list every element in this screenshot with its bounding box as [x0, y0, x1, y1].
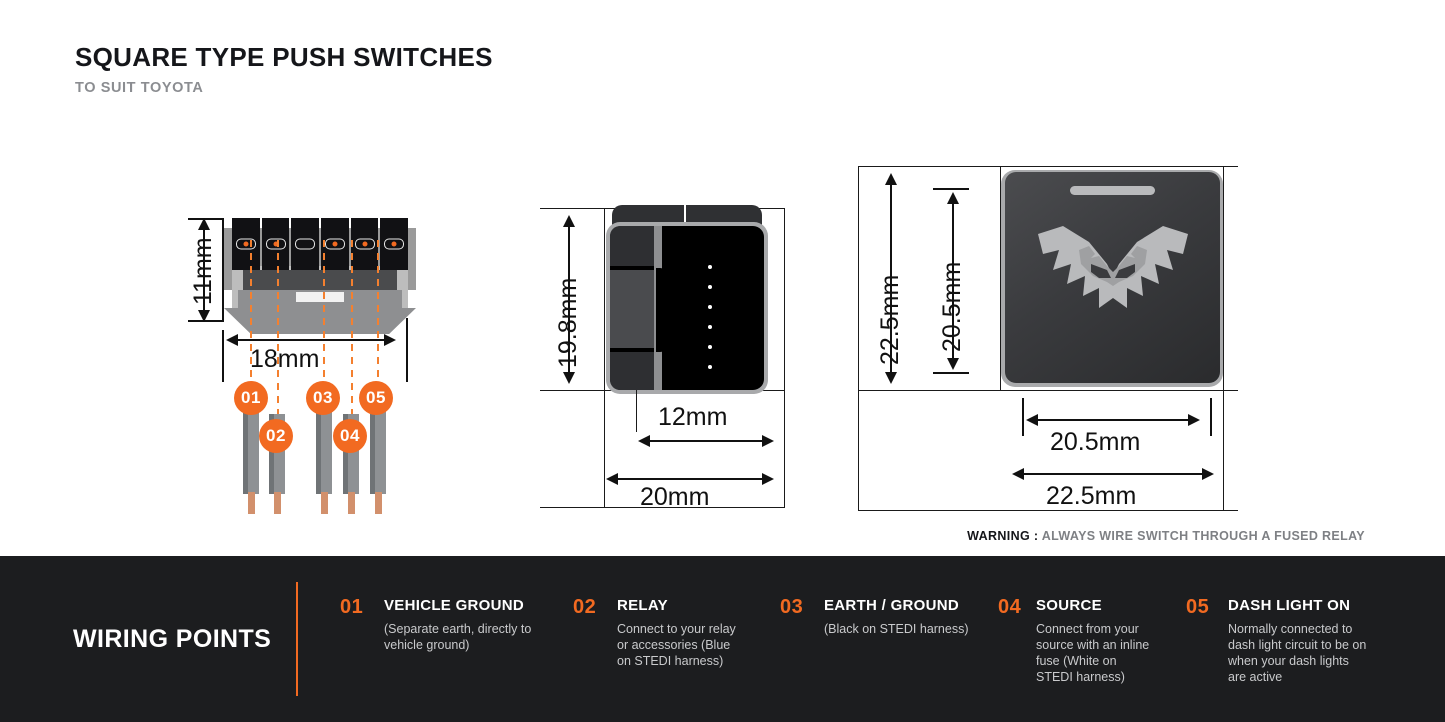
dim-line-18mm: [236, 339, 394, 341]
pin-slot-empty: [291, 218, 319, 270]
wire-badge-03: 03: [306, 381, 340, 415]
wiring-point-description: Normally connected to dash light circuit…: [1228, 621, 1368, 685]
dim-arrow-up: [885, 173, 897, 185]
dim-label-19-8mm: 19.8mm: [554, 278, 583, 368]
wire-badge-01: 01: [234, 381, 268, 415]
pin-slot: [262, 218, 290, 270]
dim-label-20-5mm-horizontal: 20.5mm: [1050, 428, 1140, 457]
warning-text: ALWAYS WIRE SWITCH THROUGH A FUSED RELAY: [1042, 529, 1365, 543]
wiring-point-heading: VEHICLE GROUND: [384, 597, 524, 614]
warning-label: WARNING :: [967, 529, 1038, 543]
wiring-point-number: 04: [998, 596, 1021, 619]
dim-arrow-up: [563, 215, 575, 227]
dim-arrow-right: [762, 435, 774, 447]
stedi-owl-emblem: [1033, 220, 1193, 335]
leader-line: [250, 240, 252, 400]
dim-ext-line: [933, 188, 969, 190]
dim-arrow-right: [1202, 468, 1214, 480]
dim-arrow-down: [563, 372, 575, 384]
wire-badge-02: 02: [259, 419, 293, 453]
wiring-point-number: 02: [573, 596, 596, 619]
dim-frame-line: [784, 208, 785, 508]
dim-line-12mm: [648, 440, 772, 442]
dim-ext-line: [933, 372, 969, 374]
dim-arrow-left: [606, 473, 618, 485]
wire-badge-04: 04: [333, 419, 367, 453]
dim-arrow-down: [885, 372, 897, 384]
detent-dot: [708, 325, 712, 329]
detent-dot: [708, 265, 712, 269]
bezel-segment-mid: [610, 270, 654, 348]
dim-arrow-down: [947, 358, 959, 370]
connector-pin-row: [232, 218, 408, 270]
dim-label-20mm: 20mm: [640, 483, 709, 512]
pin-hole: [295, 239, 315, 250]
dim-ext-line: [222, 330, 224, 382]
wiring-point-description: (Black on STEDI harness): [824, 621, 1004, 637]
wiring-points-panel: WIRING POINTS 01 VEHICLE GROUND (Separat…: [0, 556, 1445, 722]
dim-line-22-5mm-h: [1022, 473, 1212, 475]
dim-arrow-left: [226, 334, 238, 346]
dim-label-22-5mm-vertical: 22.5mm: [876, 275, 905, 365]
indicator-bar: [1070, 186, 1155, 195]
wire-badge-05: 05: [359, 381, 393, 415]
warning-note: WARNING : ALWAYS WIRE SWITCH THROUGH A F…: [967, 529, 1365, 543]
wire-tip: [375, 492, 382, 514]
pin-slot: [380, 218, 408, 270]
dim-frame-line: [1223, 166, 1224, 511]
dim-label-22-5mm-horizontal: 22.5mm: [1046, 482, 1136, 511]
dim-ext-line: [406, 318, 408, 382]
pin-dot: [392, 242, 397, 247]
pin-dot: [362, 242, 367, 247]
dim-label-11mm: 11mm: [189, 237, 218, 305]
dim-arrow-down: [198, 310, 210, 322]
switch-face[interactable]: [1005, 172, 1220, 383]
dim-arrow-up: [947, 192, 959, 204]
wiring-point-heading: DASH LIGHT ON: [1228, 597, 1350, 614]
leader-line: [377, 240, 379, 400]
connector-base: [224, 308, 416, 334]
dim-label-12mm: 12mm: [658, 403, 727, 432]
wiring-point-description: (Separate earth, directly to vehicle gro…: [384, 621, 556, 653]
wire-tip: [248, 492, 255, 514]
connector-tab: [296, 292, 344, 302]
pin-slot: [321, 218, 349, 270]
dim-frame-line: [858, 166, 1238, 167]
dim-line-20-5mm-h: [1036, 419, 1198, 421]
connector-diagram: 11mm 18mm: [0, 0, 520, 540]
detent-dot: [708, 345, 712, 349]
dim-arrow-right: [1188, 414, 1200, 426]
wiring-point-number: 03: [780, 596, 803, 619]
dim-arrow-up: [198, 218, 210, 230]
detent-dot: [708, 285, 712, 289]
pin-dot: [243, 242, 248, 247]
panel-divider: [296, 582, 298, 696]
switch-spec-sheet: SQUARE TYPE PUSH SWITCHES TO SUIT TOYOTA…: [0, 0, 1445, 722]
leader-line: [351, 240, 353, 430]
wiring-point-heading: EARTH / GROUND: [824, 597, 959, 614]
dim-label-18mm: 18mm: [250, 345, 319, 374]
wiring-point-description: Connect from your source with an inline …: [1036, 621, 1156, 685]
wire-tip: [274, 492, 281, 514]
bezel-segment-bottom: [610, 352, 654, 390]
dim-arrow-left: [1012, 468, 1024, 480]
bezel-segment-top: [610, 226, 654, 266]
leader-line: [323, 240, 325, 400]
pin-dot: [332, 242, 337, 247]
dim-arrow-right: [762, 473, 774, 485]
wire-tip: [321, 492, 328, 514]
wiring-point-heading: SOURCE: [1036, 597, 1102, 614]
wiring-points-title: WIRING POINTS: [73, 625, 271, 654]
dim-arrow-right: [384, 334, 396, 346]
wiring-point-number: 05: [1186, 596, 1209, 619]
dim-arrow-left: [1026, 414, 1038, 426]
wiring-point-description: Connect to your relay or accessories (Bl…: [617, 621, 747, 669]
wiring-point-number: 01: [340, 596, 363, 619]
dim-frame-line: [858, 390, 1238, 391]
dim-ext-line: [1210, 398, 1212, 436]
dim-ext-line: [1022, 398, 1024, 436]
leader-line: [277, 240, 279, 430]
pin-slot: [232, 218, 260, 270]
dim-arrow-left: [638, 435, 650, 447]
dim-frame-line: [604, 208, 605, 508]
face-view-diagram: 22.5mm 20.5mm: [850, 0, 1445, 540]
detent-dot: [708, 305, 712, 309]
wire-tip: [348, 492, 355, 514]
body-notch: [656, 268, 666, 352]
detent-dot: [708, 365, 712, 369]
dim-frame-line: [858, 166, 859, 511]
wiring-point-heading: RELAY: [617, 597, 668, 614]
dim-label-20-5mm-vertical: 20.5mm: [938, 262, 967, 352]
dim-line-20mm: [616, 478, 772, 480]
dim-ext-line: [636, 390, 637, 432]
side-view-diagram: 19.8mm 12mm 20mm: [520, 0, 850, 540]
pin-slot: [351, 218, 379, 270]
